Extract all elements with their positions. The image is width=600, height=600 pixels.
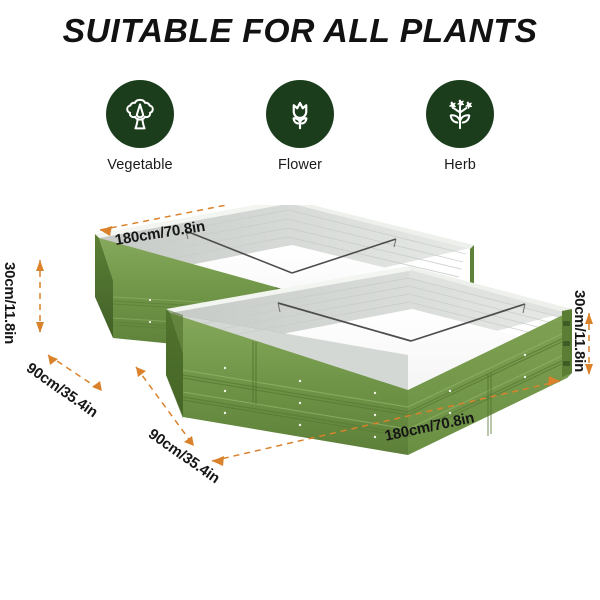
tulip-icon xyxy=(280,94,320,134)
page-title: SUITABLE FOR ALL PLANTS xyxy=(0,12,600,50)
feature-label-herb: Herb xyxy=(444,157,476,173)
feature-item-vegetable: Vegetable xyxy=(84,80,196,173)
feature-item-herb: Herb xyxy=(404,80,516,173)
garden-bed-drawing xyxy=(0,205,600,495)
dimension-label-front-height: 30cm/11.8in xyxy=(571,290,588,372)
feature-item-flower: Flower xyxy=(244,80,356,173)
feature-label-vegetable: Vegetable xyxy=(107,157,172,173)
feature-badge-herb xyxy=(426,80,494,148)
feature-label-flower: Flower xyxy=(278,157,322,173)
feature-badge-vegetable xyxy=(106,80,174,148)
product-infographic: SUITABLE FOR ALL PLANTS Vegetable xyxy=(0,0,600,600)
broccoli-icon xyxy=(120,94,160,134)
feature-badge-flower xyxy=(266,80,334,148)
product-illustration xyxy=(0,205,600,495)
feature-row: Vegetable Flower xyxy=(0,80,600,173)
herb-icon xyxy=(440,94,480,134)
dimension-label-back-height: 30cm/11.8in xyxy=(1,262,18,344)
